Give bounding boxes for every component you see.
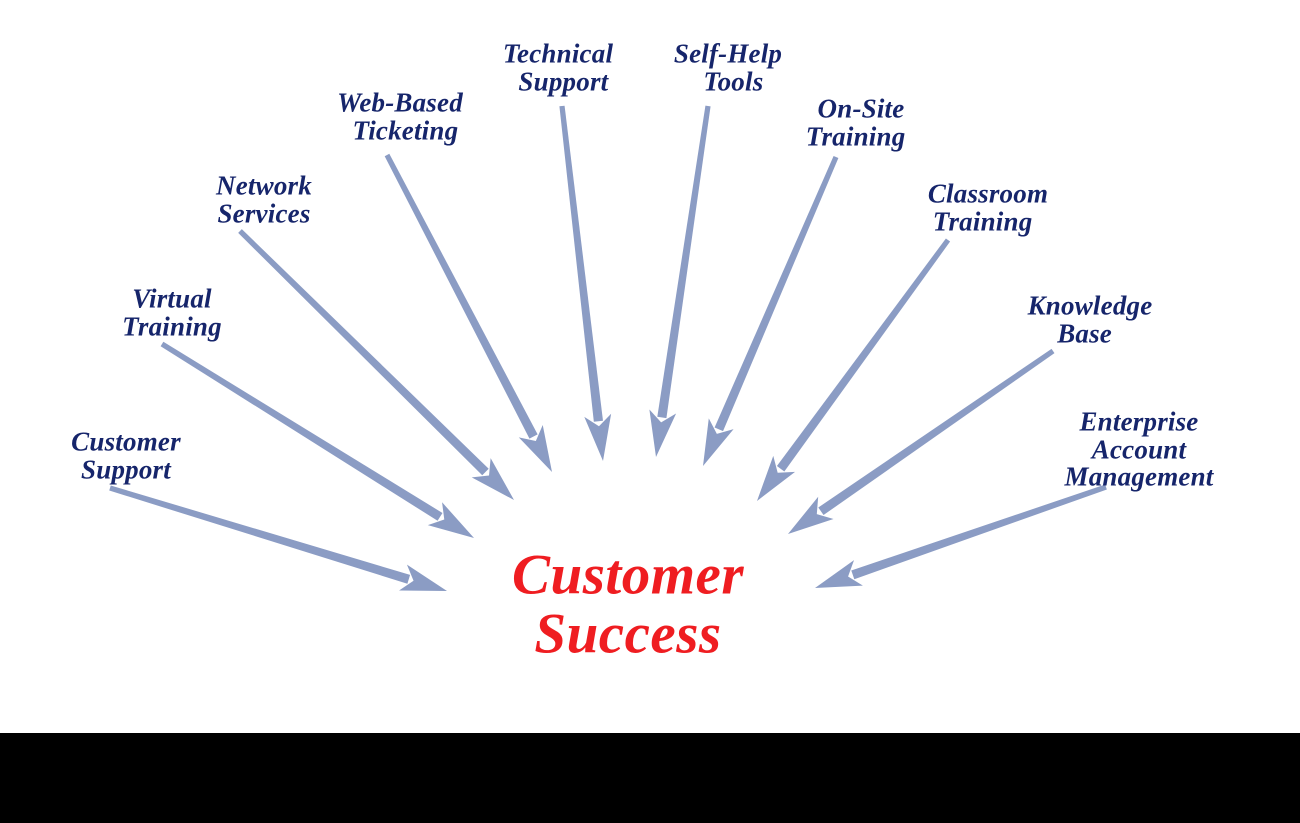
arrow-shaft [715, 156, 839, 431]
label-line: Services [216, 200, 312, 228]
arrow-web-based-ticketing [385, 154, 552, 472]
arrow-shaft [657, 106, 710, 418]
arrow-shaft [238, 229, 489, 475]
node-label-on-site-training: On-SiteTraining [806, 95, 916, 150]
arrow-technical-support [559, 106, 611, 461]
node-label-network-services: NetworkServices [216, 172, 312, 227]
label-line: Support [71, 456, 181, 484]
label-line: Customer [71, 428, 181, 456]
center-label-line: Customer [512, 546, 744, 605]
label-line: Training [806, 123, 916, 151]
label-line: Support [503, 68, 613, 96]
node-label-virtual-training: VirtualTraining [122, 285, 222, 340]
footer-bar: alamy Image ID: 2AEB8N4 www.alamy.com [0, 733, 1300, 823]
arrow-shaft [109, 486, 410, 584]
label-line: Web-Based [337, 89, 463, 117]
center-label-line: Success [512, 605, 744, 664]
arrow-shaft [559, 106, 603, 422]
label-line: Knowledge [1028, 292, 1153, 320]
center-node-customer-success: CustomerSuccess [512, 546, 744, 665]
arrow-enterprise-account-management [815, 485, 1107, 588]
node-label-customer-support: CustomerSupport [71, 428, 181, 483]
label-line: Training [122, 313, 222, 341]
label-line: Network [216, 172, 312, 200]
node-label-knowledge-base: KnowledgeBase [1028, 292, 1153, 347]
node-label-enterprise-account-management: EnterpriseAccountManagement [1064, 409, 1213, 492]
label-line: Ticketing [337, 117, 463, 145]
arrow-shaft [161, 342, 443, 521]
arrow-virtual-training [161, 342, 474, 538]
node-label-web-based-ticketing: Web-BasedTicketing [337, 89, 463, 144]
arrow-customer-support [109, 486, 447, 591]
label-line: Technical [503, 40, 613, 68]
label-line: Virtual [122, 285, 222, 313]
diagram-page: CustomerSupport VirtualTraining NetworkS… [0, 0, 1300, 823]
arrow-shaft [851, 485, 1107, 580]
label-line: Enterprise [1064, 409, 1213, 437]
arrow-self-help-tools [649, 106, 710, 457]
arrow-knowledge-base [788, 349, 1054, 534]
arrow-head [428, 502, 474, 538]
node-label-classroom-training: ClassroomTraining [928, 180, 1048, 235]
label-line: Self-Help [674, 40, 782, 68]
label-line: On-Site [806, 95, 916, 123]
label-line: Account [1064, 436, 1213, 464]
node-label-self-help-tools: Self-HelpTools [674, 40, 782, 95]
label-line: Training [928, 208, 1048, 236]
label-line: Classroom [928, 180, 1048, 208]
label-line: Base [1028, 320, 1153, 348]
label-line: Tools [674, 68, 782, 96]
label-line: Management [1064, 464, 1213, 492]
arrow-network-services [238, 229, 514, 500]
diagram-canvas: CustomerSupport VirtualTraining NetworkS… [0, 0, 1300, 723]
node-label-technical-support: TechnicalSupport [503, 40, 613, 95]
